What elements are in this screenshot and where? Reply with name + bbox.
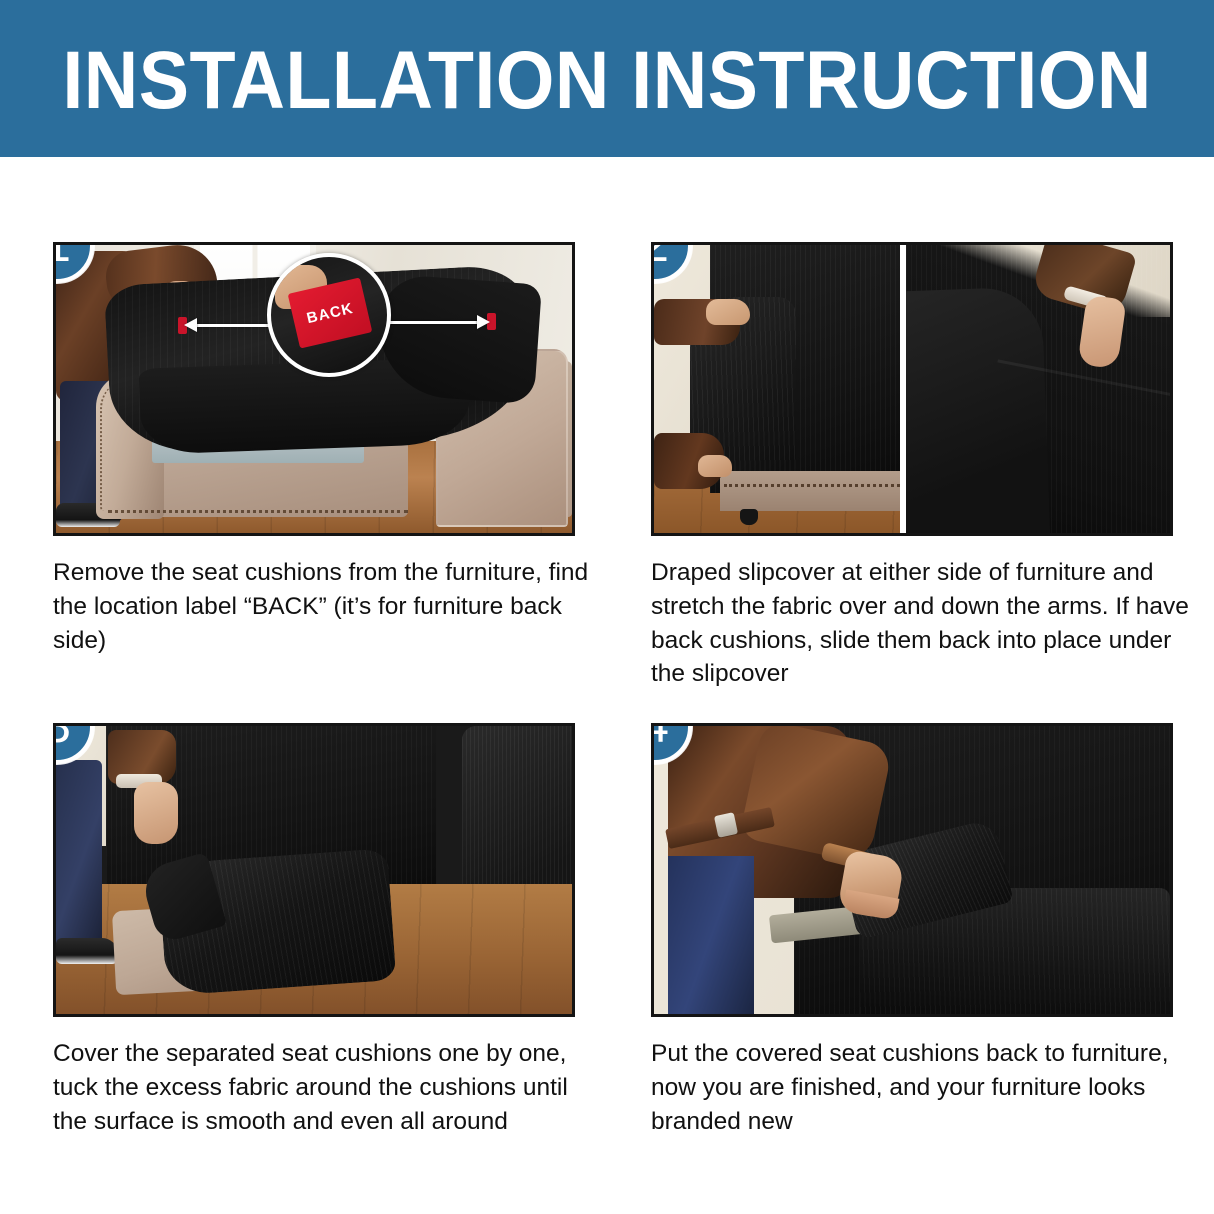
person-hand-lower bbox=[698, 455, 732, 477]
step-2-photo-right bbox=[906, 245, 1170, 533]
person-shoe bbox=[56, 938, 118, 964]
arrow-right-icon bbox=[378, 321, 486, 324]
arrow-right-head-icon bbox=[477, 315, 490, 329]
step-number-4: 4 bbox=[651, 723, 669, 754]
belt-buckle-icon bbox=[714, 812, 738, 838]
step-number-3: 3 bbox=[53, 723, 71, 754]
steps-grid: BACK 1 Remove the seat cushions from the… bbox=[0, 157, 1214, 1214]
step-2-photo-left bbox=[654, 245, 900, 533]
step-number-1: 1 bbox=[53, 242, 71, 273]
slipcover-drape-panel bbox=[906, 286, 1050, 533]
step-2-photo: 2 bbox=[651, 242, 1173, 536]
step-3-caption: Cover the separated seat cushions one by… bbox=[53, 1037, 593, 1138]
person-jeans bbox=[668, 856, 754, 1017]
step-panel-2: 2 Draped slipcover at either side of fur… bbox=[651, 242, 1173, 691]
arrow-left-icon bbox=[188, 324, 280, 327]
step-panel-3: 3 Cover the separated seat cushions one … bbox=[53, 723, 575, 1138]
step-number-2: 2 bbox=[651, 242, 669, 273]
step-panel-4: 4 Put the covered seat cushions back to … bbox=[651, 723, 1173, 1138]
sofa-nailhead-trim bbox=[724, 484, 900, 487]
back-label-text: BACK bbox=[305, 299, 355, 326]
step-1-caption: Remove the seat cushions from the furnit… bbox=[53, 556, 593, 657]
split-divider bbox=[900, 245, 906, 533]
back-label-magnifier-callout: BACK bbox=[267, 253, 391, 377]
arrow-left-head-icon bbox=[184, 318, 197, 332]
person-hand-upper bbox=[706, 299, 750, 325]
person-leg bbox=[56, 760, 102, 946]
person-hand bbox=[134, 782, 178, 844]
step-4-caption: Put the covered seat cushions back to fu… bbox=[651, 1037, 1196, 1138]
sofa-nailhead-trim-bottom bbox=[108, 510, 408, 513]
step-4-photo: 4 bbox=[651, 723, 1173, 1017]
sofa-foot bbox=[740, 509, 758, 525]
sofa-base-uncovered bbox=[720, 471, 900, 511]
page-title: INSTALLATION INSTRUCTION bbox=[62, 36, 1151, 122]
step-panel-1: BACK 1 Remove the seat cushions from the… bbox=[53, 242, 575, 657]
header-banner: INSTALLATION INSTRUCTION bbox=[0, 0, 1214, 157]
step-2-caption: Draped slipcover at either side of furni… bbox=[651, 556, 1196, 691]
step-1-photo: BACK 1 bbox=[53, 242, 575, 536]
step-3-photo: 3 bbox=[53, 723, 575, 1017]
